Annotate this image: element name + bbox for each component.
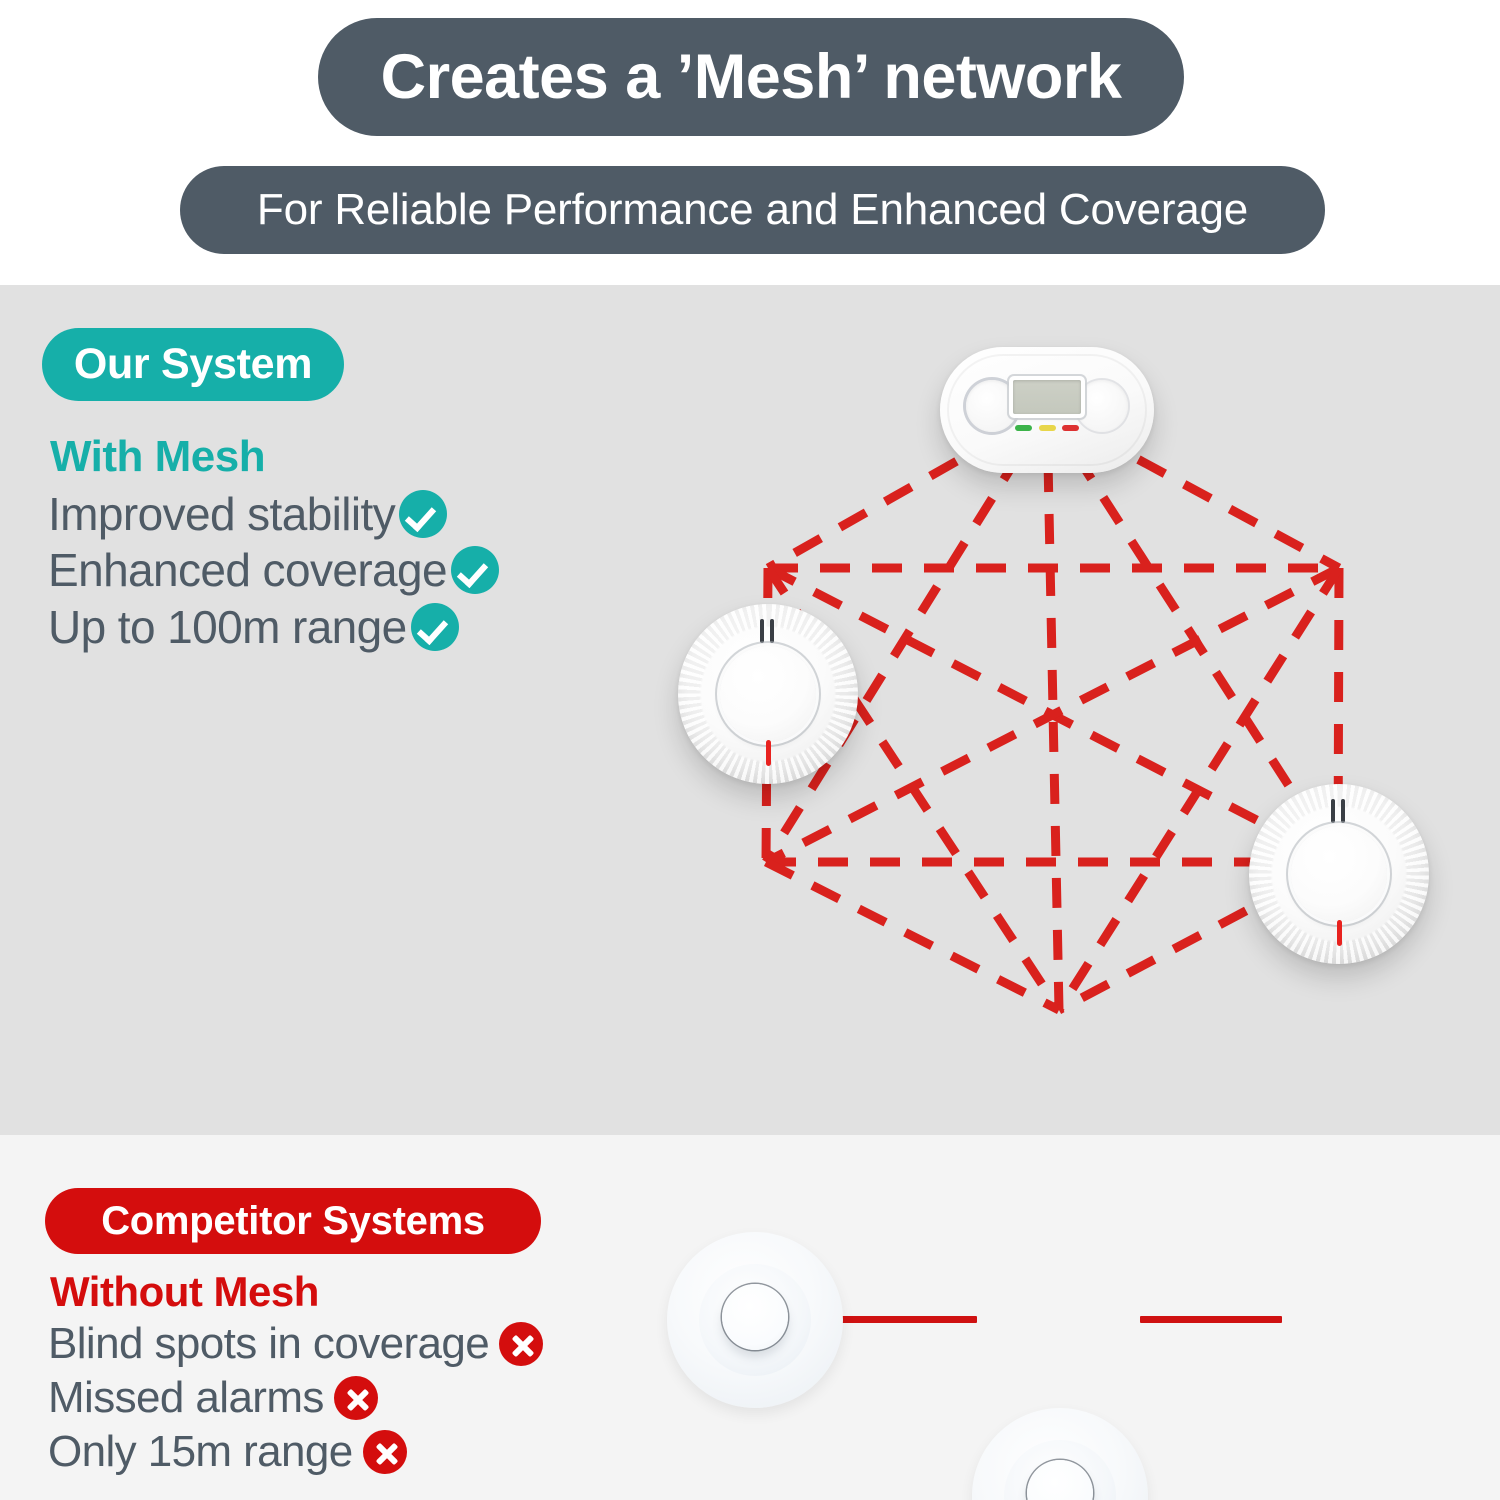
check-icon bbox=[451, 546, 499, 594]
fault-led-icon bbox=[1039, 425, 1056, 431]
power-led-icon bbox=[1015, 425, 1032, 431]
led-indicator-group bbox=[1015, 425, 1079, 431]
feature-label: Only 15m range bbox=[48, 1426, 353, 1478]
check-icon bbox=[411, 603, 459, 651]
feature-label: Improved stability bbox=[48, 487, 395, 541]
page-subtitle: For Reliable Performance and Enhanced Co… bbox=[180, 166, 1325, 254]
our-system-panel: Our System With Mesh Improved stability … bbox=[0, 285, 1500, 1135]
test-button-icon[interactable] bbox=[1291, 826, 1387, 922]
lcd-display bbox=[1013, 380, 1081, 414]
competitor-detector-1[interactable] bbox=[667, 1232, 843, 1408]
feature-item: Missed alarms bbox=[48, 1372, 543, 1424]
feature-label: Blind spots in coverage bbox=[48, 1318, 489, 1370]
header: Creates a ’Mesh’ network For Reliable Pe… bbox=[0, 0, 1500, 285]
feature-item: Up to 100m range bbox=[48, 600, 499, 654]
chain-link-2 bbox=[1140, 1316, 1282, 1323]
page-title: Creates a ’Mesh’ network bbox=[318, 18, 1184, 136]
infographic-page: Creates a ’Mesh’ network For Reliable Pe… bbox=[0, 0, 1500, 1500]
status-led-icon bbox=[766, 740, 771, 766]
chain-link-1 bbox=[835, 1316, 977, 1323]
mesh-diagram bbox=[0, 285, 1500, 1135]
sensor-slots-icon bbox=[1330, 799, 1348, 823]
smoke-alarm-top-right[interactable] bbox=[1249, 784, 1429, 964]
with-mesh-subheading: With Mesh bbox=[50, 432, 265, 482]
our-system-badge: Our System bbox=[42, 328, 344, 401]
feature-item: Enhanced coverage bbox=[48, 543, 499, 597]
our-system-feature-list: Improved stability Enhanced coverage Up … bbox=[48, 487, 499, 656]
feature-item: Improved stability bbox=[48, 487, 499, 541]
without-mesh-subheading: Without Mesh bbox=[50, 1268, 319, 1316]
feature-label: Enhanced coverage bbox=[48, 543, 447, 597]
competitor-panel: Competitor Systems Without Mesh Blind sp… bbox=[0, 1135, 1500, 1500]
cross-icon bbox=[334, 1376, 378, 1420]
competitor-badge: Competitor Systems bbox=[45, 1188, 541, 1254]
lcd-frame bbox=[1009, 376, 1085, 418]
feature-item: Only 15m range bbox=[48, 1426, 543, 1478]
alarm-led-icon bbox=[1062, 425, 1079, 431]
check-icon bbox=[399, 490, 447, 538]
feature-label: Up to 100m range bbox=[48, 600, 407, 654]
cross-icon bbox=[499, 1322, 543, 1366]
competitor-detector-2[interactable] bbox=[972, 1408, 1148, 1500]
co-detector-device[interactable] bbox=[940, 347, 1154, 473]
feature-item: Blind spots in coverage bbox=[48, 1318, 543, 1370]
smoke-alarm-top-left[interactable] bbox=[678, 604, 858, 784]
cross-icon bbox=[363, 1430, 407, 1474]
sensor-slots-icon bbox=[759, 619, 777, 643]
test-button-icon[interactable] bbox=[722, 1284, 788, 1350]
feature-label: Missed alarms bbox=[48, 1372, 324, 1424]
competitor-feature-list: Blind spots in coverage Missed alarms On… bbox=[48, 1318, 543, 1480]
status-led-icon bbox=[1337, 920, 1342, 946]
test-button-icon[interactable] bbox=[720, 646, 816, 742]
